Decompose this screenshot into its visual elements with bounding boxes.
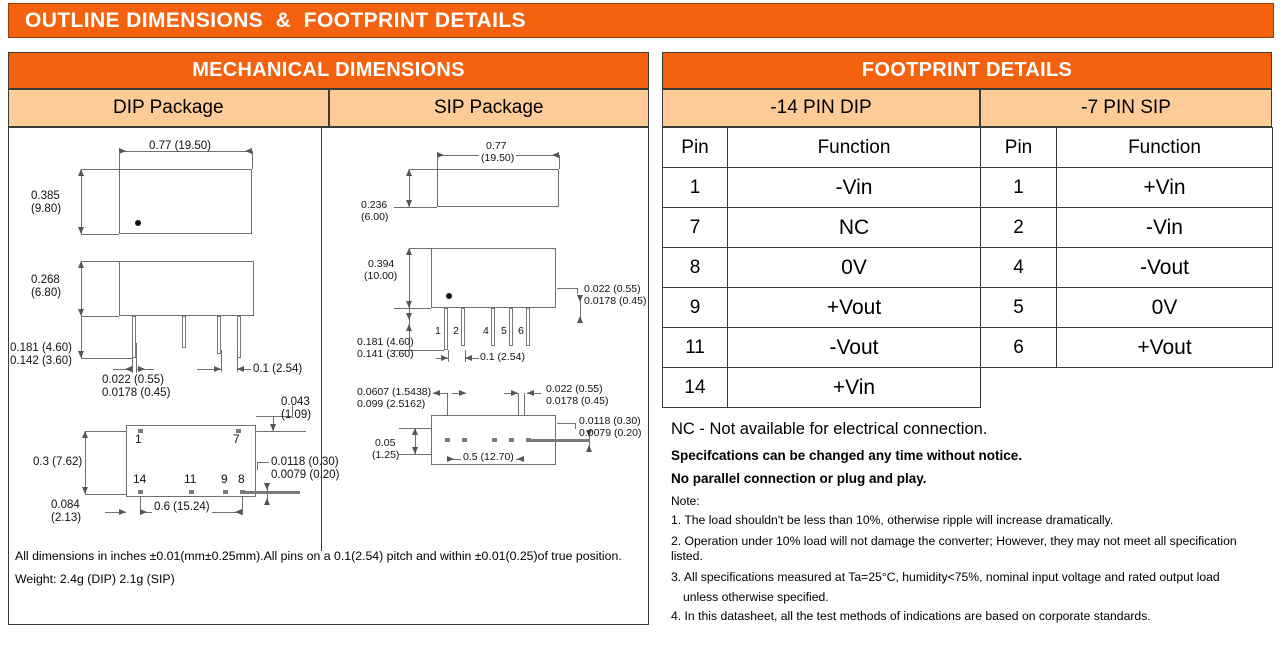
sip-pin-length-line2: 0.141 (3.60) (357, 349, 414, 361)
sip-function-cell: +Vin (1057, 168, 1273, 208)
empty-cell (981, 368, 1057, 408)
sip-top-width-line2: (19.50) (479, 153, 516, 165)
sip-pin-number-6: 6 (518, 325, 524, 337)
sip-pad-size-line2: 0.0079 (0.20) (579, 428, 641, 440)
footprint-table: Pin Function Pin Function 1 -Vin 1 +Vin … (662, 127, 1273, 408)
note-item-3: 3. All specifications measured at Ta=25°… (671, 570, 1271, 586)
sip-top-height-line1: 0.236 (361, 200, 387, 212)
dip-top-width-label: 0.77 (19.50) (149, 140, 211, 153)
sip-bottom-pin-width-line1: 0.022 (0.55) (546, 384, 603, 396)
footprint-details-header: FOOTPRINT DETAILS (662, 52, 1272, 89)
dip-pin-cell: 7 (663, 208, 728, 248)
sip-bottom-pin-width-line2: 0.0178 (0.45) (546, 396, 608, 408)
datasheet-page: OUTLINE DIMENSIONS & FOOTPRINT DETAILS M… (0, 0, 1280, 650)
sip-pad-size-line1: 0.0118 (0.30) (579, 416, 641, 428)
group-header-14-pin-dip: -14 PIN DIP (662, 89, 980, 127)
footprint-group-headers: -14 PIN DIP -7 PIN SIP (662, 89, 1272, 127)
sip-top-width-line1: 0.77 (486, 141, 506, 153)
sip-pin-number-1: 1 (435, 325, 441, 337)
footer-note-line-1: All dimensions in inches ±0.01(mm±0.25mm… (15, 549, 640, 563)
sip-function-cell: -Vin (1057, 208, 1273, 248)
sip-pin-width-line1: 0.022 (0.55) (584, 284, 641, 296)
dip-bottom-pin-9: 9 (221, 472, 228, 486)
sip-function-cell: 0V (1057, 288, 1273, 328)
mechanical-dimensions-header: MECHANICAL DIMENSIONS (8, 52, 649, 89)
table-row: 9 +Vout 5 0V (663, 288, 1273, 328)
dip-pad-size-line1: 0.0118 (0.30) (271, 456, 339, 469)
dip-bottom-pin-1: 1 (135, 432, 142, 446)
header-dip-pin: Pin (663, 128, 728, 168)
mechanical-footer-notes: All dimensions in inches ±0.01(mm±0.25mm… (15, 549, 640, 595)
sip-pin-cell: 5 (981, 288, 1057, 328)
note-specifications: Specifcations can be changed any time wi… (671, 448, 1271, 463)
dip-side-body-height-line2: (6.80) (31, 287, 61, 300)
dip-pin-cell: 1 (663, 168, 728, 208)
header-dip-function: Function (728, 128, 981, 168)
dip-pin-cell: 9 (663, 288, 728, 328)
dip-pin-length-line1: 0.181 (4.60) (10, 342, 72, 355)
table-row: 8 0V 4 -Vout (663, 248, 1273, 288)
footer-note-line-2: Weight: 2.4g (DIP) 2.1g (SIP) (15, 572, 640, 586)
sip-offset-line2: 0.099 (2.5162) (357, 399, 425, 411)
sip-pin-cell: 1 (981, 168, 1057, 208)
table-row: 1 -Vin 1 +Vin (663, 168, 1273, 208)
note-nc-definition: NC - Not available for electrical connec… (671, 420, 1271, 439)
sip-span-label: 0.5 (12.70) (461, 452, 516, 464)
dip-side-body-height-line1: 0.268 (31, 274, 60, 287)
dip-pin-cell: 14 (663, 368, 728, 408)
dip-function-cell: NC (728, 208, 981, 248)
notes-section: NC - Not available for electrical connec… (671, 420, 1271, 630)
sip-function-cell: -Vout (1057, 248, 1273, 288)
note-item-1: 1. The load shouldn't be less than 10%, … (671, 513, 1271, 529)
dip-inset-line2: (2.13) (51, 512, 81, 525)
page-title: OUTLINE DIMENSIONS & FOOTPRINT DETAILS (9, 9, 526, 33)
dip-function-cell: 0V (728, 248, 981, 288)
notes-label: Note: (671, 494, 1271, 508)
column-header-dip-package: DIP Package (8, 89, 329, 127)
sip-pin-length-line1: 0.181 (4.60) (357, 337, 414, 349)
dip-bottom-pin-11: 11 (184, 472, 196, 486)
sip-pin-number-4: 4 (483, 325, 489, 337)
table-row: 14 +Vin (663, 368, 1273, 408)
mechanical-package-columns: DIP Package SIP Package (8, 89, 649, 127)
dip-edge-dim-line1: 0.043 (281, 396, 310, 409)
dip-pitch-label: 0.1 (2.54) (253, 363, 302, 376)
sip-function-cell: +Vout (1057, 328, 1273, 368)
drawing-divider (321, 128, 322, 551)
sip-bottom-height-line2: (1.25) (372, 450, 399, 462)
dip-top-height-label-line1: 0.385 (31, 190, 60, 203)
sip-bottom-height-line1: 0.05 (375, 438, 395, 450)
dip-function-cell: +Vin (728, 368, 981, 408)
dip-pin-cell: 8 (663, 248, 728, 288)
dip-function-cell: +Vout (728, 288, 981, 328)
empty-cell (1057, 368, 1273, 408)
dip-top-height-label-line2: (9.80) (31, 203, 61, 216)
sip-pitch-label: 0.1 (2.54) (480, 352, 525, 364)
header-sip-pin: Pin (981, 128, 1057, 168)
dip-edge-dim-line2: (1.09) (281, 409, 311, 422)
table-row: 7 NC 2 -Vin (663, 208, 1273, 248)
sip-pin-cell: 2 (981, 208, 1057, 248)
sip-offset-line1: 0.0607 (1.5438) (357, 387, 431, 399)
group-header-7-pin-sip: -7 PIN SIP (980, 89, 1272, 127)
dip-row-gap-label: 0.3 (7.62) (33, 456, 82, 469)
dip-bottom-pin-14: 14 (133, 472, 146, 486)
dip-function-cell: -Vin (728, 168, 981, 208)
dip-pin1-marker-dot (135, 220, 141, 226)
dip-pad-size-line2: 0.0079 (0.20) (271, 469, 339, 482)
table-header-row: Pin Function Pin Function (663, 128, 1273, 168)
sip-pin1-marker-dot (446, 293, 452, 299)
column-header-sip-package: SIP Package (329, 89, 650, 127)
sip-pin-width-line2: 0.0178 (0.45) (584, 296, 646, 308)
dip-inset-line1: 0.084 (51, 499, 80, 512)
header-sip-function: Function (1057, 128, 1273, 168)
sip-body-height-line1: 0.394 (368, 259, 394, 271)
note-item-2: 2. Operation under 10% load will not dam… (671, 534, 1271, 565)
dip-span-label: 0.6 (15.24) (152, 501, 212, 514)
dip-pin-width-line1: 0.022 (0.55) (102, 374, 164, 387)
sip-body-height-line2: (10.00) (364, 271, 397, 283)
dip-function-cell: -Vout (728, 328, 981, 368)
mechanical-drawing-area: 0.77 (19.50) 0.385 (9.80) (8, 127, 649, 625)
dip-bottom-pin-8: 8 (238, 472, 245, 486)
dip-pin-length-line2: 0.142 (3.60) (10, 355, 72, 368)
sip-pin-number-2: 2 (453, 325, 459, 337)
dip-pin-cell: 11 (663, 328, 728, 368)
note-no-parallel: No parallel connection or plug and play. (671, 471, 1271, 486)
note-item-3-continued: unless otherwise specified. (671, 590, 1271, 604)
table-row: 11 -Vout 6 +Vout (663, 328, 1273, 368)
dip-pin-width-line2: 0.0178 (0.45) (102, 387, 170, 400)
dip-bottom-pin-7: 7 (233, 432, 240, 446)
page-banner: OUTLINE DIMENSIONS & FOOTPRINT DETAILS (8, 3, 1274, 38)
sip-pin-number-5: 5 (501, 325, 507, 337)
sip-top-height-line2: (6.00) (361, 212, 388, 224)
sip-pin-cell: 6 (981, 328, 1057, 368)
sip-pin-cell: 4 (981, 248, 1057, 288)
note-item-4: 4. In this datasheet, all the test metho… (671, 609, 1271, 625)
